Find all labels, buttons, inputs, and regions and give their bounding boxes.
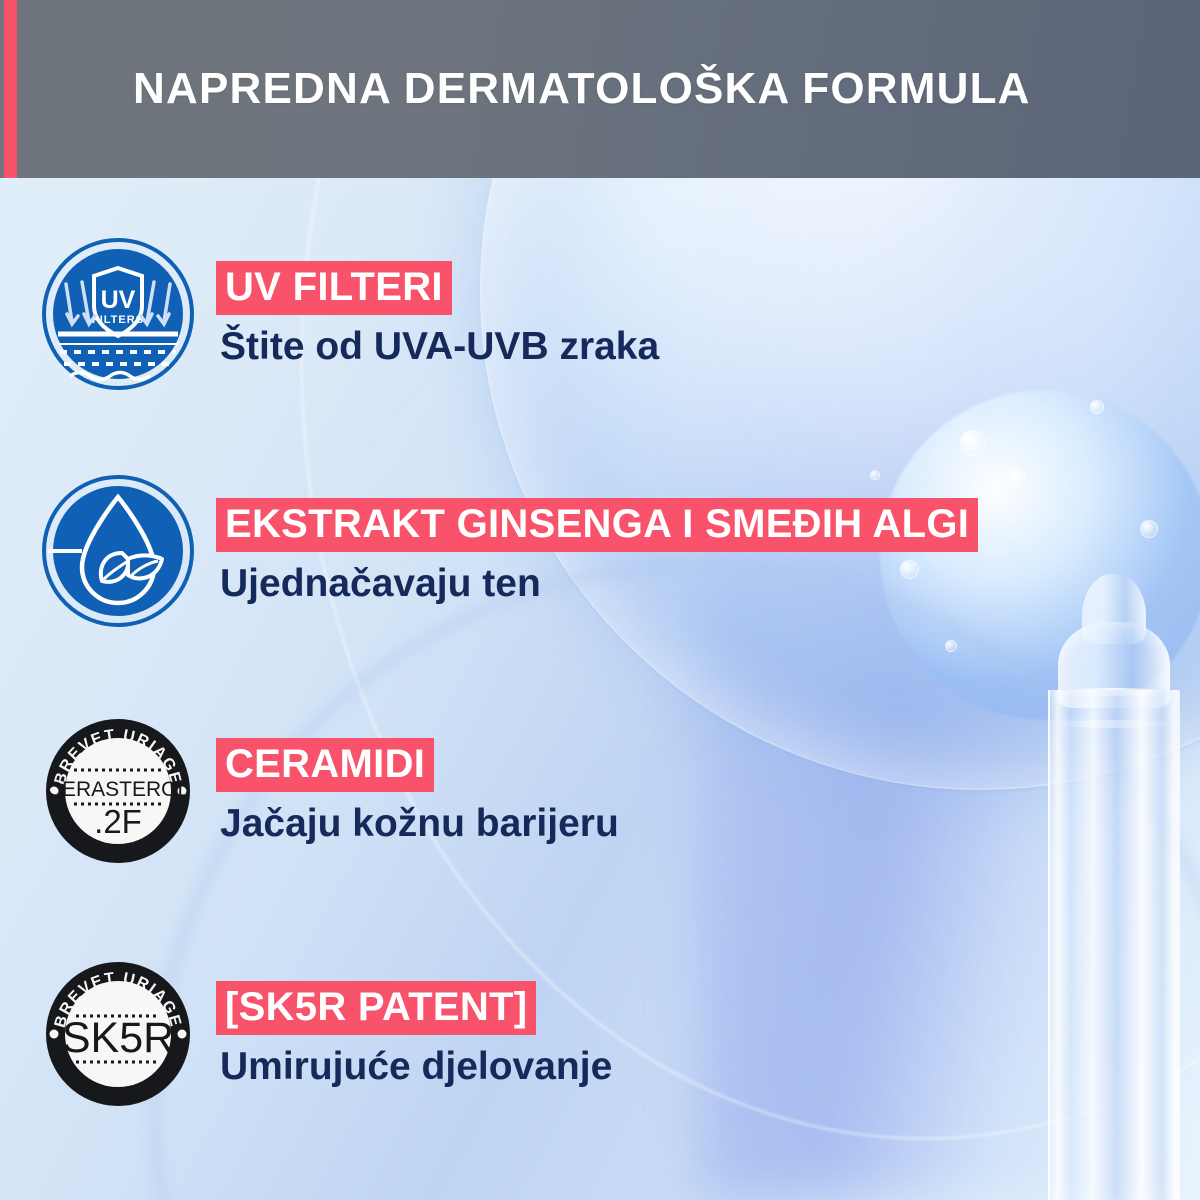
feature-text-sk5r-patent: [SK5R PATENT] Umirujuće djelovanje xyxy=(216,977,614,1091)
svg-text:UV: UV xyxy=(101,286,136,314)
badge-center-line1: CERASTEROL xyxy=(47,778,189,801)
page-title: NAPREDNA DERMATOLOŠKA FORMULA xyxy=(133,64,1031,114)
header-banner: NAPREDNA DERMATOLOŠKA FORMULA xyxy=(0,0,1200,178)
feature-list: UV FILTERS UV FILTERI xyxy=(0,178,1200,1200)
feature-row-ceramidi: BREVET URIAGE URIAGE PATENT CERASTEROL .… xyxy=(42,715,621,867)
feature-subtitle: Ujednačavaju ten xyxy=(216,554,543,608)
badge-center-line1: SK5R xyxy=(62,1014,174,1062)
feature-row-sk5r-patent: BREVET URIAGE URIAGE PATENT SK5R [SK5R P… xyxy=(42,958,614,1110)
feature-text-ekstrakt-ginsenga: EKSTRAKT GINSENGA I SMEĐIH ALGI Ujednača… xyxy=(216,494,978,608)
feature-subtitle: Štite od UVA-UVB zraka xyxy=(216,317,661,371)
sk5r-patent-badge-icon: BREVET URIAGE URIAGE PATENT SK5R xyxy=(42,958,194,1110)
feature-text-ceramidi: CERAMIDI Jačaju kožnu barijeru xyxy=(216,734,621,848)
water-drop-leaf-icon xyxy=(42,475,194,627)
svg-text:FILTERS: FILTERS xyxy=(92,314,144,326)
feature-title: [SK5R PATENT] xyxy=(216,981,536,1035)
feature-subtitle: Umirujuće djelovanje xyxy=(216,1037,614,1091)
feature-subtitle: Jačaju kožnu barijeru xyxy=(216,794,621,848)
feature-text-uv-filteri: UV FILTERI Štite od UVA-UVB zraka xyxy=(216,257,661,371)
header-accent-bar xyxy=(4,0,17,178)
uv-filter-shield-icon: UV FILTERS xyxy=(42,238,194,390)
cerasterol-patent-badge-icon: BREVET URIAGE URIAGE PATENT CERASTEROL .… xyxy=(42,715,194,867)
badge-center-line2: .2F xyxy=(94,803,142,840)
feature-title: EKSTRAKT GINSENGA I SMEĐIH ALGI xyxy=(216,498,978,552)
feature-title: UV FILTERI xyxy=(216,261,452,315)
feature-row-uv-filteri: UV FILTERS UV FILTERI xyxy=(42,238,661,390)
feature-title: CERAMIDI xyxy=(216,738,434,792)
feature-row-ekstrakt-ginsenga: EKSTRAKT GINSENGA I SMEĐIH ALGI Ujednača… xyxy=(42,475,978,627)
